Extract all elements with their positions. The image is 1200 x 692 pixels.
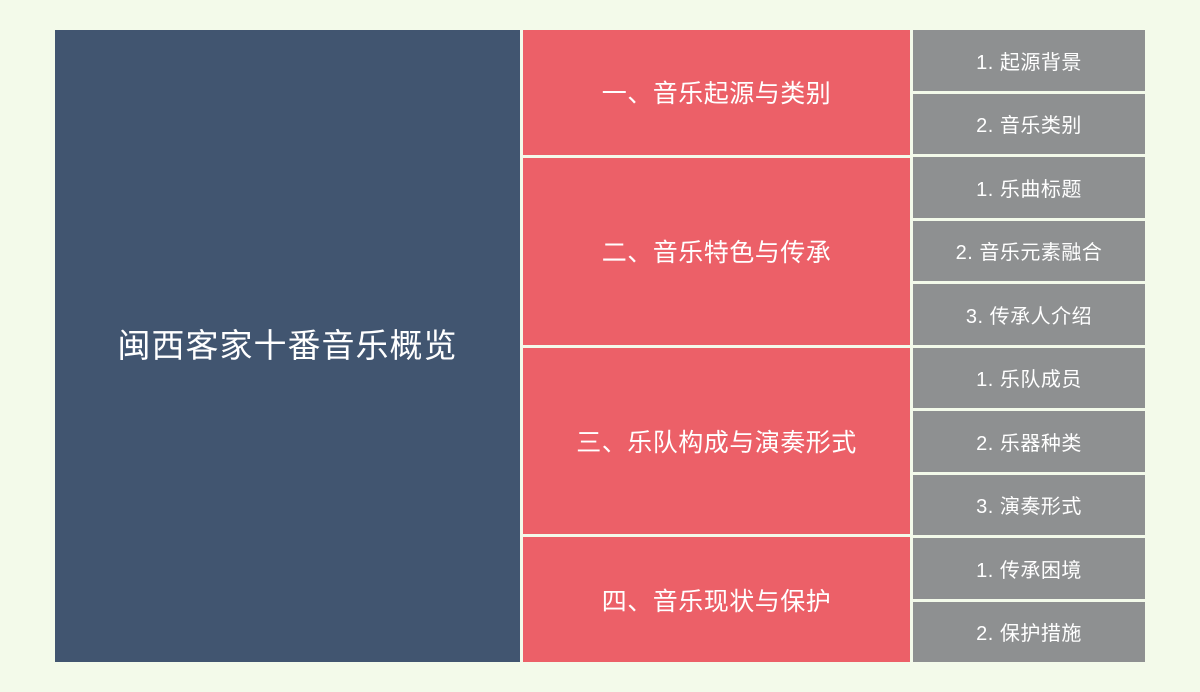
- subsection-cell[interactable]: 2. 乐器种类: [913, 411, 1145, 472]
- section-cell[interactable]: 二、音乐特色与传承: [523, 158, 910, 345]
- subsection-cell[interactable]: 2. 保护措施: [913, 602, 1145, 663]
- title-panel: 闽西客家十番音乐概览: [55, 30, 520, 662]
- subsection-cell[interactable]: 3. 传承人介绍: [913, 284, 1145, 345]
- subsection-cell[interactable]: 1. 乐曲标题: [913, 157, 1145, 218]
- subsection-cell[interactable]: 2. 音乐类别: [913, 94, 1145, 155]
- subsection-cell[interactable]: 1. 乐队成员: [913, 348, 1145, 409]
- subsection-cell[interactable]: 3. 演奏形式: [913, 475, 1145, 536]
- subsection-label: 3. 传承人介绍: [966, 300, 1092, 329]
- subsection-label: 1. 乐队成员: [976, 363, 1082, 392]
- subsection-label: 1. 传承困境: [976, 554, 1082, 583]
- subsection-label: 2. 音乐类别: [976, 109, 1082, 138]
- subsection-label: 1. 起源背景: [976, 46, 1082, 75]
- section-cell[interactable]: 一、音乐起源与类别: [523, 30, 910, 155]
- section-column: 一、音乐起源与类别二、音乐特色与传承三、乐队构成与演奏形式四、音乐现状与保护: [523, 30, 910, 662]
- subsection-label: 3. 演奏形式: [976, 490, 1082, 519]
- page-title: 闽西客家十番音乐概览: [118, 326, 458, 366]
- section-label: 一、音乐起源与类别: [602, 74, 832, 110]
- section-cell[interactable]: 四、音乐现状与保护: [523, 537, 910, 662]
- subsection-column: 1. 起源背景2. 音乐类别1. 乐曲标题2. 音乐元素融合3. 传承人介绍1.…: [913, 30, 1145, 662]
- section-label: 二、音乐特色与传承: [602, 233, 832, 269]
- subsection-label: 2. 保护措施: [976, 617, 1082, 646]
- subsection-label: 2. 音乐元素融合: [956, 236, 1103, 265]
- subsection-cell[interactable]: 1. 起源背景: [913, 30, 1145, 91]
- subsection-label: 2. 乐器种类: [976, 427, 1082, 456]
- subsection-cell[interactable]: 2. 音乐元素融合: [913, 221, 1145, 282]
- section-cell[interactable]: 三、乐队构成与演奏形式: [523, 348, 910, 535]
- mindmap-board: 闽西客家十番音乐概览 一、音乐起源与类别二、音乐特色与传承三、乐队构成与演奏形式…: [55, 30, 1145, 662]
- section-label: 四、音乐现状与保护: [602, 582, 832, 618]
- subsection-label: 1. 乐曲标题: [976, 173, 1082, 202]
- section-label: 三、乐队构成与演奏形式: [576, 423, 857, 459]
- subsection-cell[interactable]: 1. 传承困境: [913, 538, 1145, 599]
